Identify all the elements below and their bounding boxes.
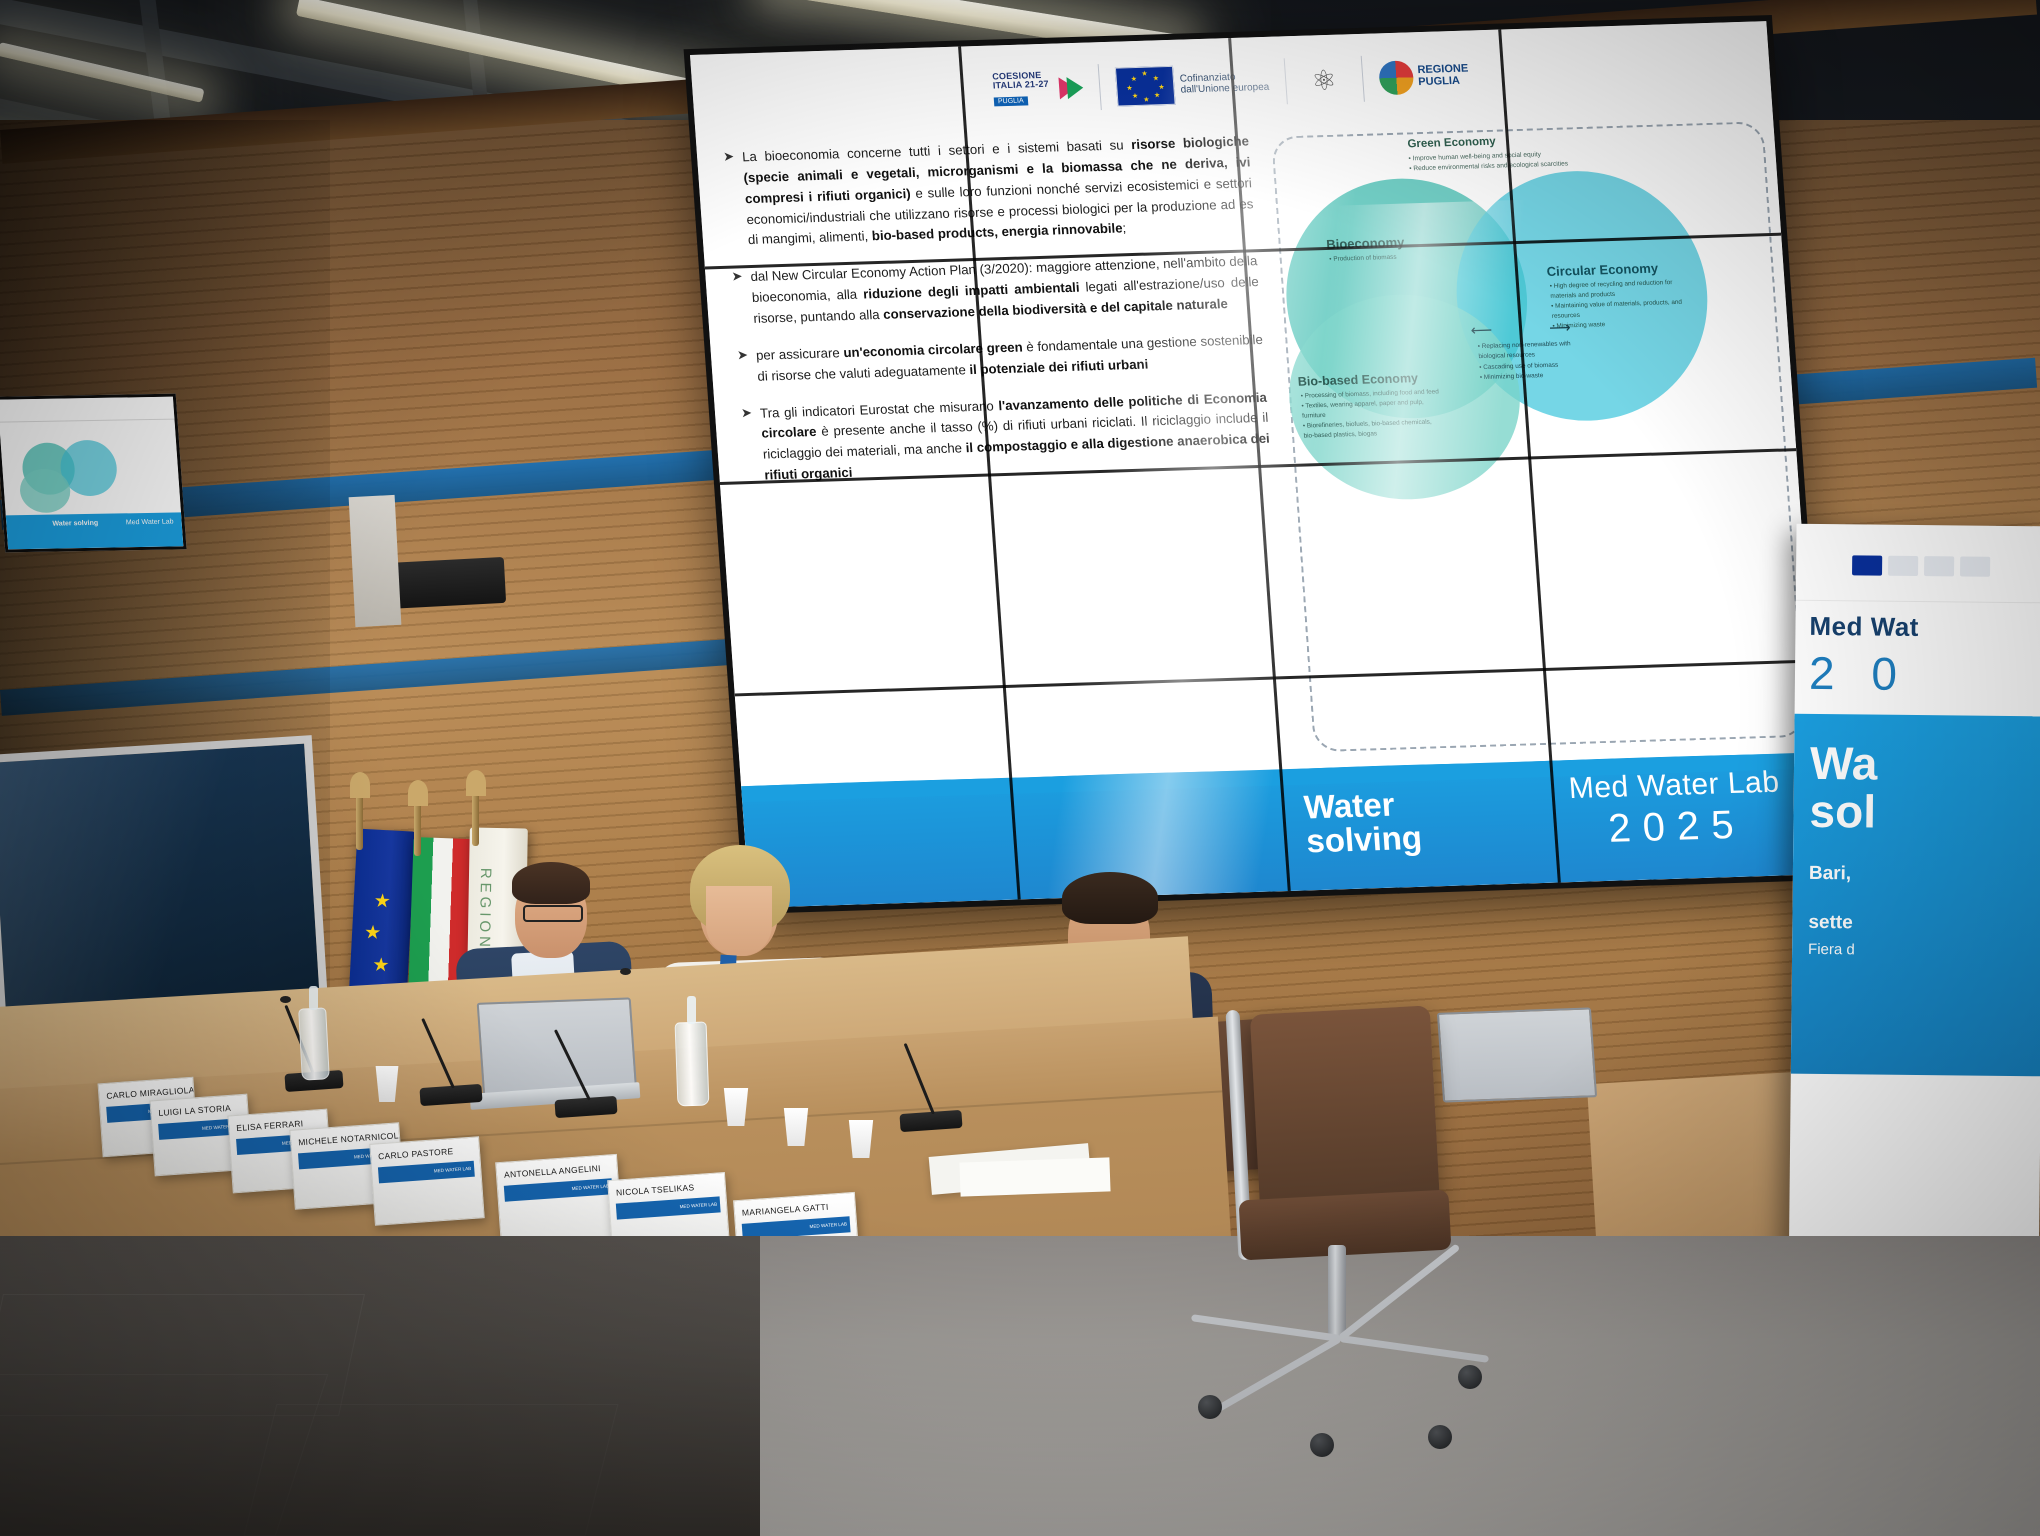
rollup-brand-line1: Med Wat (1809, 611, 2031, 644)
monitor-water-solving: Water solving (52, 520, 98, 528)
wall-window-panel (0, 735, 328, 1020)
office-chair-back (1250, 1005, 1440, 1214)
video-wall-display[interactable]: COESIONE ITALIA 21-27 PUGLIA ★ ★ ★ ★ ★ (690, 21, 1826, 908)
rollup-blue-panel: Wa sol Bari, sette Fiera d (1791, 714, 2040, 1077)
coesione-label: COESIONE ITALIA 21-27 (992, 70, 1059, 91)
monitor-slide: Water solving Med Water Lab (0, 397, 183, 550)
flag-pole (414, 798, 421, 856)
italian-republic-emblem-icon: ⚛ (1300, 55, 1347, 104)
brand-line2: 2025 (1570, 802, 1784, 854)
flag-finial (350, 772, 370, 798)
rollup-title: Med Wat 2 0 (1795, 601, 2040, 703)
nameplate: ANTONELLA ANGELINI MED WATER LAB (495, 1154, 623, 1248)
water-bottle (675, 1021, 710, 1106)
flag-pole (472, 788, 479, 846)
nameplate-org: MED WATER LAB (680, 1203, 718, 1210)
nameplate-org: MED WATER LAB (572, 1184, 610, 1191)
bullet-text: La bioeconomia concerne tutti i settori … (741, 131, 1255, 251)
papers (959, 1157, 1110, 1196)
microphone-head[interactable] (620, 968, 631, 975)
nameplate-org: MED WATER LAB (809, 1222, 847, 1229)
partner-logo-icon (1924, 556, 1954, 576)
confidence-monitor[interactable]: Water solving Med Water Lab (0, 394, 187, 553)
nameplate: CARLO PASTORE MED WATER LAB (369, 1136, 484, 1225)
panelist-right-hair (1062, 872, 1158, 924)
water-solving-logo: Water solving (1303, 787, 1423, 858)
water-bottle (298, 1007, 330, 1080)
bullet-arrow-icon: ➤ (736, 346, 750, 388)
partner-logo-icon (1888, 556, 1918, 576)
flag-finial (466, 770, 486, 796)
med-water-lab-logo: Med Water Lab 2025 (1568, 766, 1784, 853)
monitor-footer: Water solving Med Water Lab (6, 512, 184, 549)
coesione-sub: PUGLIA (994, 97, 1028, 107)
microphone-head[interactable] (280, 996, 291, 1003)
monitor-logo-row (0, 397, 174, 423)
eu-flag-icon (1852, 555, 1882, 575)
nameplate-bar: MED WATER LAB (504, 1179, 613, 1202)
water-line2: solving (1305, 821, 1423, 858)
partner-logo-icon (1960, 556, 1990, 576)
conference-room-scene: COESIONE ITALIA 21-27 PUGLIA ★ ★ ★ ★ ★ (0, 0, 2040, 1536)
regione-puglia-logo: REGIONE PUGLIA (1378, 59, 1470, 96)
bullet-arrow-icon: ➤ (731, 268, 746, 331)
glasses-icon (523, 905, 583, 922)
chair-wheel (1198, 1395, 1222, 1419)
slide-bullet: ➤ La bioeconomia concerne tutti i settor… (723, 131, 1256, 252)
biobased-economy-bullets: • Processing of biomass, including food … (1300, 387, 1443, 441)
puglia-mark-icon (1378, 60, 1414, 95)
floor-shadow (0, 1236, 760, 1536)
rollup-info-line2: sette (1808, 911, 2026, 937)
nameplate-bar: MED WATER LAB (616, 1197, 721, 1220)
flag-pole (356, 790, 363, 850)
presentation-slide: COESIONE ITALIA 21-27 PUGLIA ★ ★ ★ ★ ★ (690, 21, 1826, 908)
rollup-info-line3: Fiera d (1808, 941, 2026, 960)
panelist-center-face (706, 886, 772, 956)
divider (1098, 64, 1102, 110)
wall-speaker (384, 557, 506, 609)
panelist-left-hair (512, 862, 590, 904)
monitor-brand: Med Water Lab (126, 518, 174, 527)
bullet-arrow-icon: ➤ (740, 404, 757, 488)
divider (1360, 56, 1364, 102)
divider (1283, 58, 1287, 104)
chair-wheel (1310, 1433, 1334, 1457)
region-line2: PUGLIA (1418, 76, 1470, 89)
coesione-logo: COESIONE ITALIA 21-27 PUGLIA (992, 64, 1085, 115)
rollup-logo-row (1796, 524, 2040, 604)
chair-wheel (1458, 1365, 1482, 1389)
water-bottle-neck (309, 986, 318, 1010)
rollup-water-line2: sol (1809, 788, 2027, 838)
slide-bullet: ➤ per assicurare un'economia circolare g… (736, 330, 1265, 388)
rollup-brand-line2: 2 0 (1809, 646, 2032, 702)
nameplate-org: MED WATER LAB (434, 1167, 472, 1174)
flag-finial (408, 780, 428, 806)
eu-cofunding-logo: ★ ★ ★ ★ ★ ★ ★ ★ Cofinanziato dall'Unione… (1115, 62, 1270, 106)
overlap-bullets: • Replacing non-renewables with biologic… (1477, 338, 1600, 383)
brand-line1: Med Water Lab (1568, 766, 1781, 807)
chair-wheel (1428, 1425, 1452, 1449)
bullet-arrow-icon: ➤ (723, 148, 741, 252)
eu-flag-icon: ★ ★ ★ ★ ★ ★ ★ ★ (1115, 65, 1176, 106)
nameplate-bar: MED WATER LAB (378, 1161, 475, 1184)
bullet-text: per assicurare un'economia circolare gre… (755, 330, 1265, 388)
laptop-screen[interactable] (1437, 1007, 1597, 1102)
eu-cofund-line2: dall'Unione europea (1180, 82, 1269, 96)
monitor-text (3, 424, 67, 430)
wall-column (349, 495, 402, 627)
rollup-info-line1: Bari, (1809, 862, 2027, 888)
slide-bullet-column: ➤ La bioeconomia concerne tutti i settor… (696, 121, 1301, 788)
water-bottle-neck (687, 996, 696, 1024)
rollup-water-line1: Wa (1810, 740, 2028, 790)
office-chair-base (1190, 1325, 1510, 1455)
